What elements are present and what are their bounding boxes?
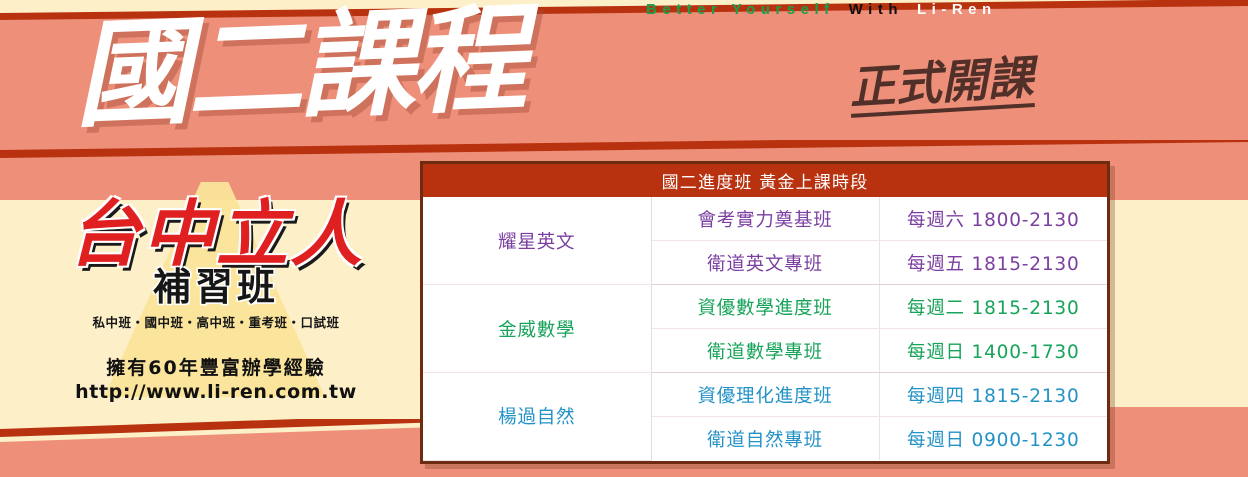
page-subtitle: 正式開課 xyxy=(848,53,1035,118)
time-cell: 每週日 0900-1230 xyxy=(879,417,1107,461)
course-cell: 衛道自然專班 xyxy=(651,417,879,461)
logo-block: 台中立人 補習班 私中班・國中班・高中班・重考班・口試班 擁有60年豐富辦學經驗… xyxy=(36,198,396,403)
table-row: 耀星英文 會考實力奠基班 每週六 1800-2130 xyxy=(423,197,1107,241)
schedule-table: 國二進度班 黃金上課時段 耀星英文 會考實力奠基班 每週六 1800-2130 … xyxy=(423,164,1107,461)
tagline: Better YourselfWithLi-Ren xyxy=(646,1,1011,19)
experience-text: 擁有60年豐富辦學經驗 xyxy=(36,353,396,380)
logo-brand-name: 台中立人 xyxy=(36,198,396,270)
time-cell: 每週六 1800-2130 xyxy=(879,197,1107,241)
table-row: 楊過自然 資優理化進度班 每週四 1815-2130 xyxy=(423,373,1107,417)
subject-cell: 金威數學 xyxy=(423,285,651,373)
tagline-part-2: With xyxy=(849,1,903,18)
course-cell: 會考實力奠基班 xyxy=(651,197,879,241)
course-cell: 衛道數學專班 xyxy=(651,329,879,373)
page-title: 國二課程 xyxy=(72,0,525,143)
schedule-table-body: 耀星英文 會考實力奠基班 每週六 1800-2130 衛道英文專班 每週五 18… xyxy=(423,197,1107,460)
tagline-part-3: Li-Ren xyxy=(917,1,997,18)
table-row: 金威數學 資優數學進度班 每週二 1815-2130 xyxy=(423,285,1107,329)
course-cell: 資優數學進度班 xyxy=(651,285,879,329)
schedule-header-title: 國二進度班 黃金上課時段 xyxy=(423,164,1107,197)
time-cell: 每週日 1400-1730 xyxy=(879,329,1107,373)
subject-cell: 楊過自然 xyxy=(423,373,651,461)
time-cell: 每週二 1815-2130 xyxy=(879,285,1107,329)
course-cell: 衛道英文專班 xyxy=(651,241,879,285)
course-cell: 資優理化進度班 xyxy=(651,373,879,417)
promotional-banner: Better YourselfWithLi-Ren 國二課程 正式開課 台中立人… xyxy=(0,0,1248,477)
schedule-table-container: 國二進度班 黃金上課時段 耀星英文 會考實力奠基班 每週六 1800-2130 … xyxy=(420,161,1110,464)
table-header-row: 國二進度班 黃金上課時段 xyxy=(423,164,1107,197)
time-cell: 每週五 1815-2130 xyxy=(879,241,1107,285)
logo-class-list: 私中班・國中班・高中班・重考班・口試班 xyxy=(36,312,396,331)
tagline-part-1: Better Yourself xyxy=(646,1,835,18)
subject-cell: 耀星英文 xyxy=(423,197,651,285)
time-cell: 每週四 1815-2130 xyxy=(879,373,1107,417)
website-url[interactable]: http://www.li-ren.com.tw xyxy=(36,381,396,403)
